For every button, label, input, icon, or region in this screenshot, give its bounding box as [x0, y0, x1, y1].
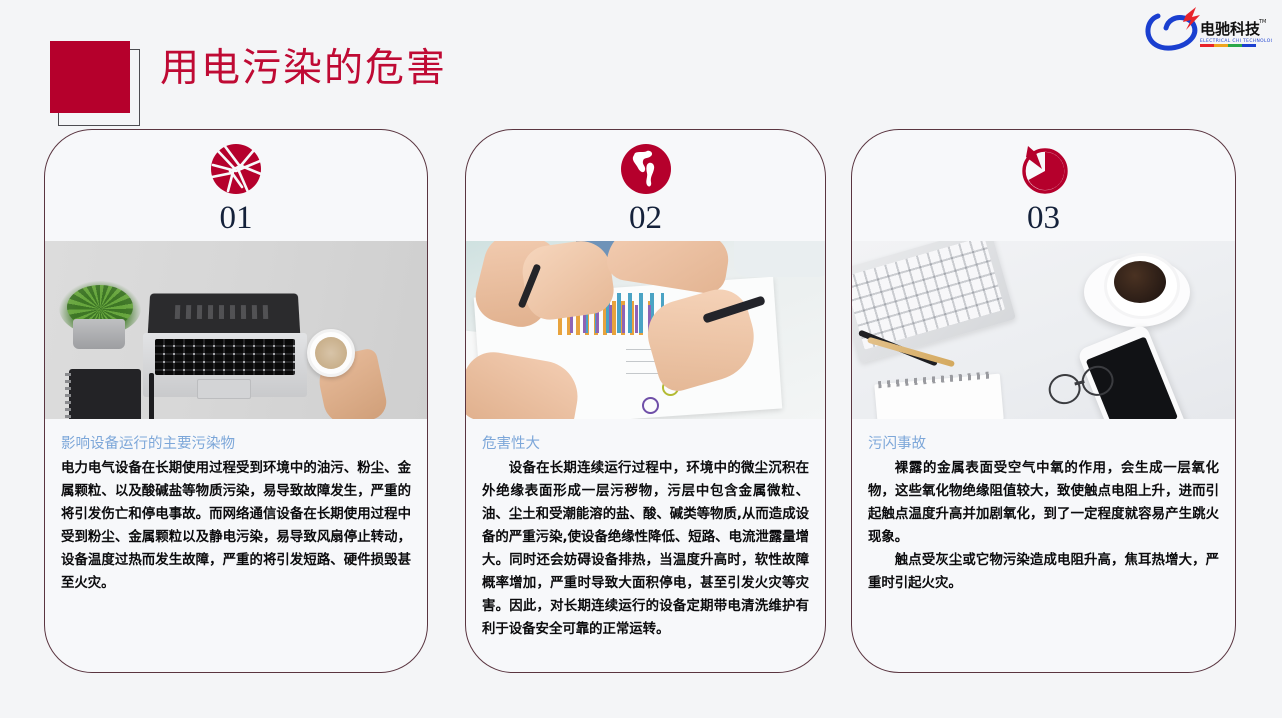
card-03-heading: 污闪事故 [868, 432, 1219, 453]
card-03[interactable]: 03 污闪事故 裸露的金属表面受空气中氧的作用，会生成一层氧化物，这些氧化物绝缘… [851, 129, 1236, 673]
card-01-number: 01 [220, 202, 253, 235]
card-02-paragraph-1: 设备在长期连续运行过程中，环境中的微尘沉积在外绝缘表面形成一层污秽物，污层中包含… [482, 457, 809, 641]
card-03-paragraph-1: 裸露的金属表面受空气中氧的作用，会生成一层氧化物，这些氧化物绝缘阻值较大，致使触… [868, 457, 1219, 549]
card-01-body: 影响设备运行的主要污染物 电力电气设备在长期使用过程受到环境中的油污、粉尘、金属… [45, 419, 427, 595]
card-list: 01 影响设备运行的主要污染物 电力电气设备在长期使用过程受到环境中的油污、粉尘… [0, 0, 1282, 718]
pie-chart-exploded-slice-icon [1016, 141, 1072, 197]
network-mesh-globe-icon [208, 141, 264, 197]
card-03-photo [852, 241, 1235, 419]
card-03-header: 03 [852, 130, 1235, 241]
card-01-photo [45, 241, 427, 419]
card-02-heading: 危害性大 [482, 432, 809, 453]
card-03-number: 03 [1027, 202, 1060, 235]
card-02-photo [466, 241, 825, 419]
card-02-number: 02 [629, 202, 662, 235]
card-01[interactable]: 01 影响设备运行的主要污染物 电力电气设备在长期使用过程受到环境中的油污、粉尘… [44, 129, 428, 673]
card-02-body: 危害性大 设备在长期连续运行过程中，环境中的微尘沉积在外绝缘表面形成一层污秽物，… [466, 419, 825, 641]
card-01-header: 01 [45, 130, 427, 241]
card-02-header: 02 [466, 130, 825, 241]
card-02[interactable]: 02 危害性大 设备在长期连续运行过程中，环境中的微尘沉积在外绝缘表面形成一层污… [465, 129, 826, 673]
globe-americas-icon [618, 141, 674, 197]
card-03-paragraph-2: 触点受灰尘或它物污染造成电阻升高，焦耳热增大，严重时引起火灾。 [868, 549, 1219, 595]
card-01-paragraph-1: 电力电气设备在长期使用过程受到环境中的油污、粉尘、金属颗粒、以及酸碱盐等物质污染… [61, 457, 411, 595]
card-01-heading: 影响设备运行的主要污染物 [61, 432, 411, 453]
card-03-body: 污闪事故 裸露的金属表面受空气中氧的作用，会生成一层氧化物，这些氧化物绝缘阻值较… [852, 419, 1235, 595]
